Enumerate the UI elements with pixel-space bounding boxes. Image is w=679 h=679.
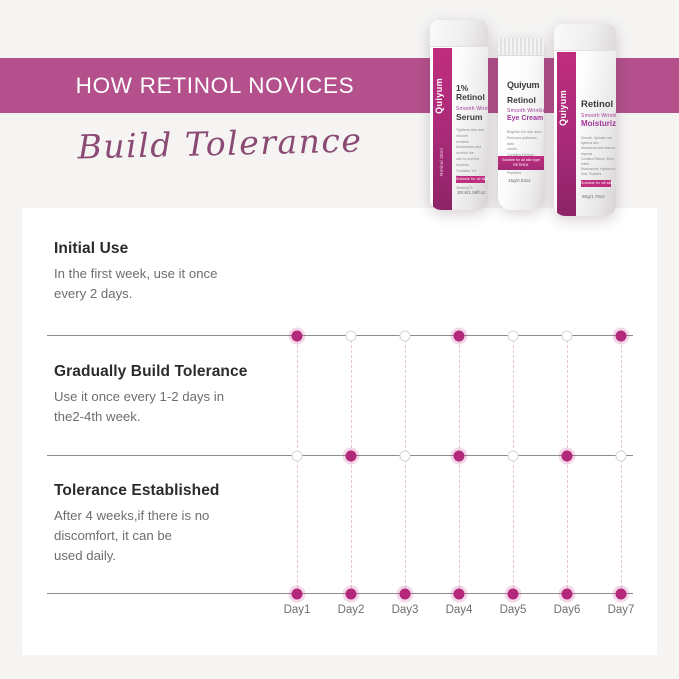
moisturizer-pump-cap	[554, 24, 616, 51]
serum-volume: 30ml/1.06fl.oz	[457, 190, 486, 195]
serum-pump-cap	[430, 20, 488, 47]
timeline-dot-row2-day3	[400, 450, 411, 461]
eyecream-subtitle: Smooth Wrinkle	[507, 108, 544, 114]
timeline-column-day2	[351, 335, 352, 593]
eyecream-volume: 15g/0.53oz	[508, 178, 531, 183]
timeline-dot-row2-day4	[454, 450, 465, 461]
product-moisturizer-bottle: Quiyum Retinol Smooth Wrinkle Moisturize…	[554, 24, 616, 216]
eyecream-badge: Suitable for all skin type RETINOL	[498, 156, 544, 170]
timeline-dot-row3-day7	[616, 588, 627, 599]
moisturizer-name: Retinol	[581, 100, 613, 110]
timeline-axis-week-2-4	[47, 455, 633, 456]
step-1-title: Initial Use	[54, 240, 344, 258]
day-label-7: Day7	[608, 604, 635, 616]
timeline-axis-week-1	[47, 335, 633, 336]
content-card: Initial Use In the first week, use it on…	[22, 208, 657, 655]
timeline-dot-row1-day6	[562, 330, 573, 341]
product-serum-bottle: Quiyum Retinol 30ml 1% Retinol Smooth Wr…	[430, 20, 488, 210]
timeline-column-day1	[297, 335, 298, 593]
script-subtitle: Build Tolerance	[0, 119, 440, 169]
timeline-dot-row3-day5	[508, 588, 519, 599]
banner-title: HOW RETINOL NOVICES	[0, 58, 430, 113]
eyecream-name: Retinol	[507, 96, 536, 105]
timeline-dot-row2-day5	[508, 450, 519, 461]
step-1-description: In the first week, use it once every 2 d…	[54, 264, 344, 304]
day-label-5: Day5	[500, 604, 527, 616]
timeline-dot-row3-day3	[400, 588, 411, 599]
moisturizer-badge: Suitable for all skin type	[581, 180, 611, 187]
moisturizer-bullets: Smooth, hydrates and tightens skin Moist…	[581, 136, 616, 178]
eyecream-type: Eye Cream	[507, 115, 543, 122]
serum-side-volume: Retinol 30ml	[439, 148, 444, 176]
timeline-dot-row1-day3	[400, 330, 411, 341]
serum-badge: Suitable for all skin type	[456, 176, 485, 183]
timeline-dot-row1-day2	[346, 330, 357, 341]
timeline-dot-row3-day4	[454, 588, 465, 599]
timeline-dot-row1-day7	[616, 330, 627, 341]
moisturizer-brand-text: Quiyum	[558, 90, 568, 126]
timeline-dot-row2-day2	[346, 450, 357, 461]
timeline-dot-row3-day2	[346, 588, 357, 599]
timeline-column-day4	[459, 335, 460, 593]
step-tolerance-established: Tolerance Established After 4 weeks,if t…	[54, 482, 344, 566]
day-label-6: Day6	[554, 604, 581, 616]
moisturizer-volume: 50g/1.76oz	[582, 194, 605, 199]
step-3-title: Tolerance Established	[54, 482, 344, 500]
day-label-4: Day4	[446, 604, 473, 616]
step-gradually-build-tolerance: Gradually Build Tolerance Use it once ev…	[54, 363, 344, 427]
timeline-dot-row2-day1	[292, 450, 303, 461]
timeline-dot-row1-day5	[508, 330, 519, 341]
day-label-2: Day2	[338, 604, 365, 616]
moisturizer-brand-stripe	[557, 52, 576, 216]
timeline-column-day5	[513, 335, 514, 593]
tube-crimp	[498, 38, 544, 56]
day-label-3: Day3	[392, 604, 419, 616]
serum-brand-text: Quiyum	[434, 78, 444, 114]
product-eyecream-tube: Quiyum Retinol Smooth Wrinkle Eye Cream …	[498, 38, 544, 210]
serum-type: Serum	[456, 113, 482, 122]
step-2-title: Gradually Build Tolerance	[54, 363, 344, 381]
day-label-1: Day1	[284, 604, 311, 616]
timeline-dot-row2-day6	[562, 450, 573, 461]
timeline-dot-row1-day4	[454, 330, 465, 341]
timeline-axis-daily	[47, 593, 633, 594]
timeline-dot-row3-day6	[562, 588, 573, 599]
timeline-dot-row2-day7	[616, 450, 627, 461]
step-2-description: Use it once every 1-2 days in the2-4th w…	[54, 387, 344, 427]
step-3-description: After 4 weeks,if there is no discomfort,…	[54, 506, 344, 566]
eyecream-brand-text: Quiyum	[507, 80, 539, 90]
serum-name: 1% Retinol	[456, 84, 486, 102]
moisturizer-type: Moisturizer	[581, 120, 616, 128]
timeline-column-day7	[621, 335, 622, 593]
timeline-dot-row3-day1	[292, 588, 303, 599]
serum-brand-stripe	[433, 48, 452, 210]
timeline-dot-row1-day1	[292, 330, 303, 341]
timeline-column-day6	[567, 335, 568, 593]
timeline-column-day3	[405, 335, 406, 593]
product-image-group: Quiyum Retinol 30ml 1% Retinol Smooth Wr…	[424, 12, 652, 224]
step-initial-use: Initial Use In the first week, use it on…	[54, 240, 344, 304]
